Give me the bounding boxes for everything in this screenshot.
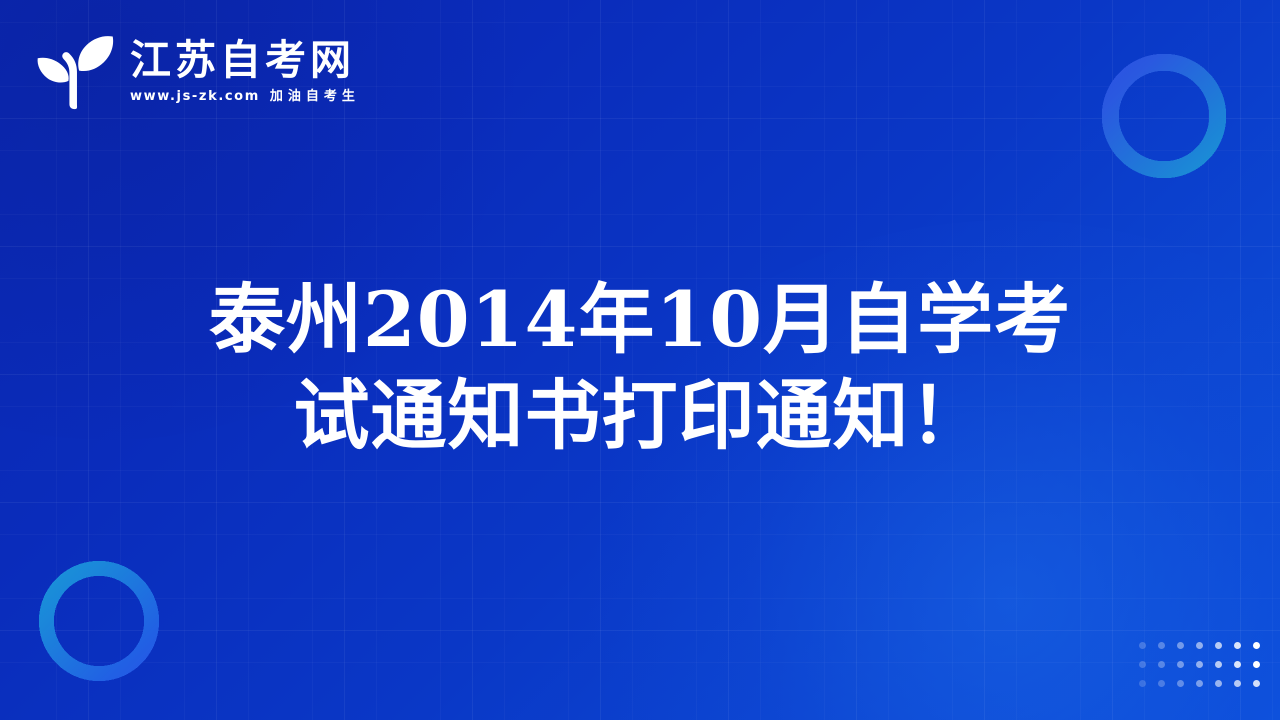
headline-line-1: 泰州2014年10月自学考 (110, 272, 1170, 368)
promo-banner: 江苏自考网 www.js-zk.com 加油自考生 泰州2014年10月自学考 … (0, 0, 1280, 720)
logo-slogan: 加油自考生 (270, 85, 360, 104)
dot (1234, 642, 1241, 649)
logo-url: www.js-zk.com (130, 89, 260, 104)
dot (1215, 661, 1222, 668)
dot (1139, 680, 1146, 687)
dot (1215, 680, 1222, 687)
sprout-icon (34, 30, 116, 112)
dot (1215, 642, 1222, 649)
dot (1158, 642, 1165, 649)
headline: 泰州2014年10月自学考 试通知书打印通知！ (0, 272, 1280, 464)
dot (1253, 642, 1260, 649)
dot (1253, 661, 1260, 668)
dot (1177, 680, 1184, 687)
dot (1139, 642, 1146, 649)
headline-line-2: 试通知书打印通知！ (110, 368, 1170, 464)
dot (1177, 642, 1184, 649)
dot-grid-bottom-right (1133, 636, 1266, 693)
gradient-ring-top-right (1076, 28, 1252, 204)
dot (1253, 680, 1260, 687)
dot (1196, 661, 1203, 668)
dot (1234, 680, 1241, 687)
dot (1234, 661, 1241, 668)
dot (1139, 661, 1146, 668)
dot (1196, 680, 1203, 687)
logo-title: 江苏自考网 (130, 40, 360, 81)
dot (1177, 661, 1184, 668)
dot (1196, 642, 1203, 649)
dot (1158, 680, 1165, 687)
logo-text-block: 江苏自考网 www.js-zk.com 加油自考生 (130, 38, 360, 104)
logo-subtitle: www.js-zk.com 加油自考生 (130, 85, 360, 104)
gradient-ring-bottom-left (14, 536, 184, 706)
dot (1158, 661, 1165, 668)
site-logo[interactable]: 江苏自考网 www.js-zk.com 加油自考生 (34, 30, 360, 112)
